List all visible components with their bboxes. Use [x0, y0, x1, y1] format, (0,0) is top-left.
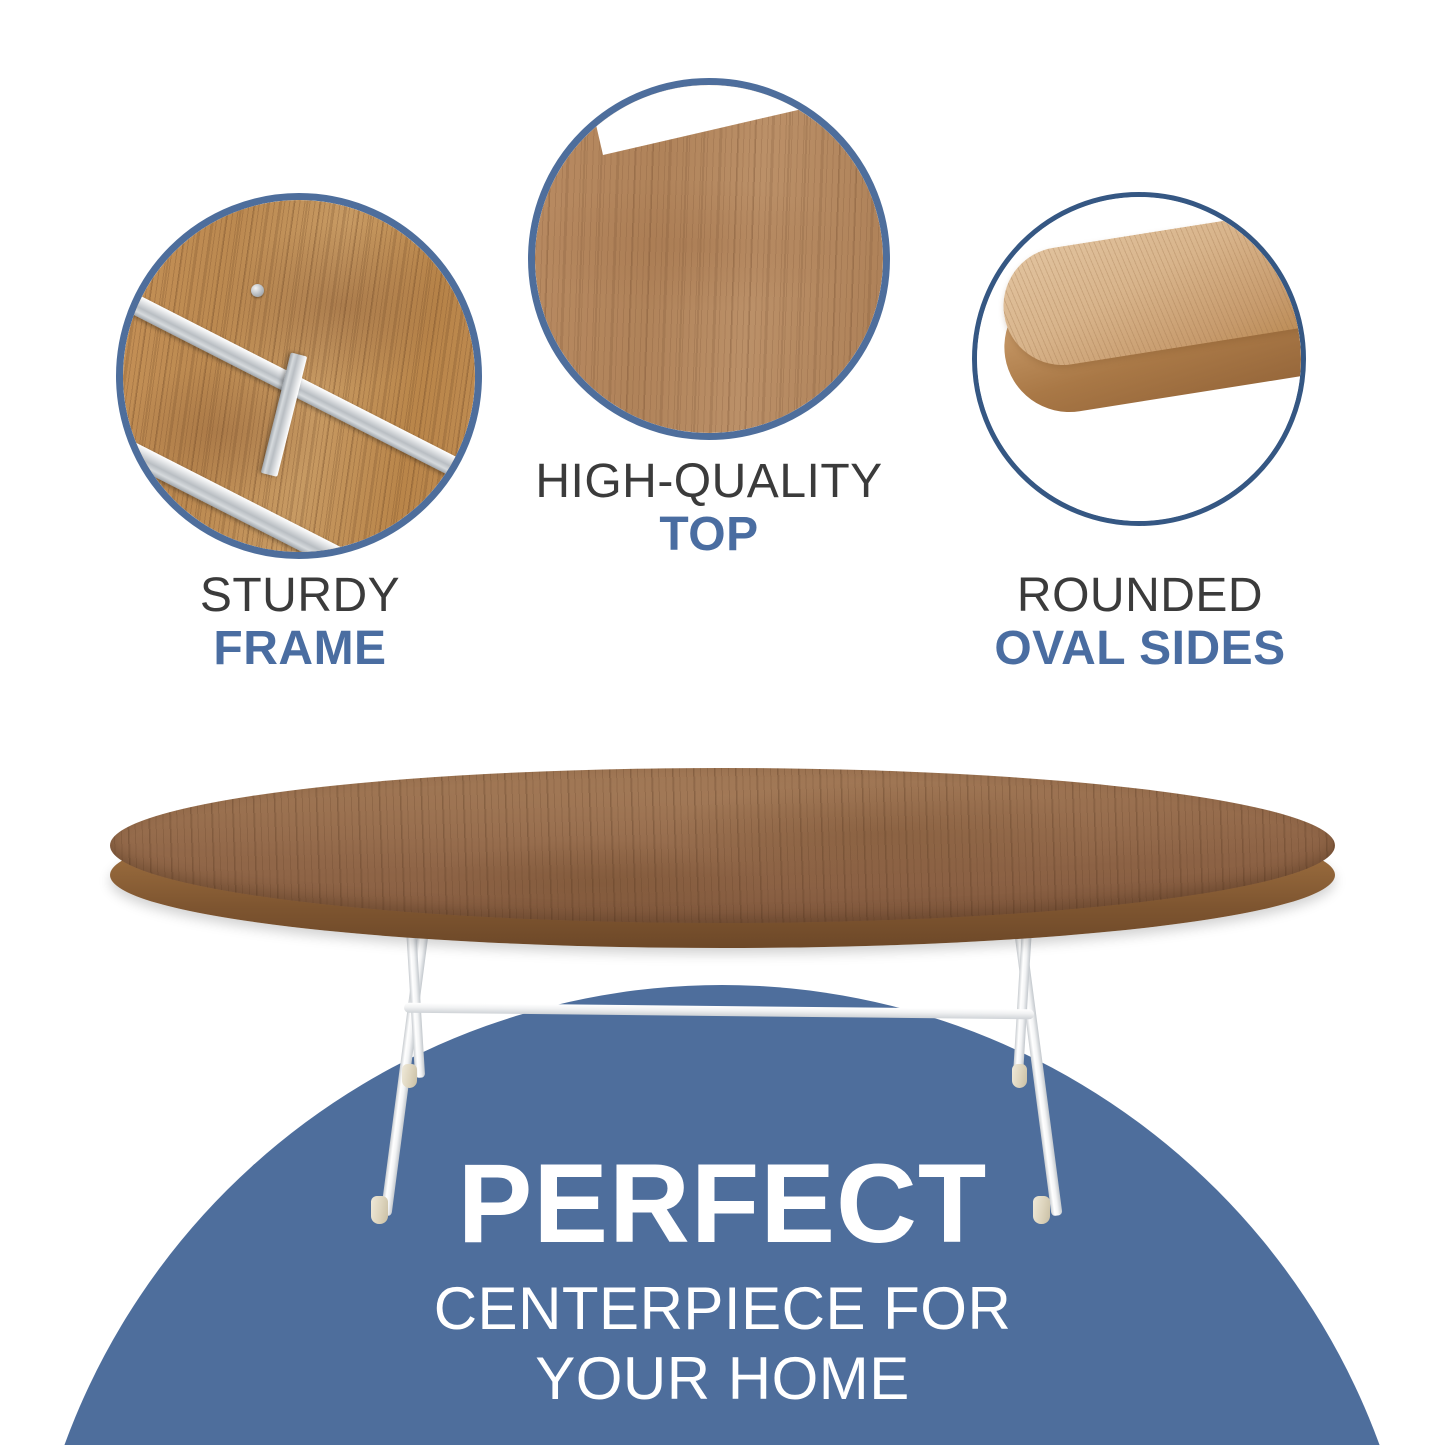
hero-subline-2: YOUR HOME — [0, 1344, 1445, 1414]
hero-headline-block: PERFECT CENTERPIECE FOR YOUR HOME — [0, 1148, 1445, 1413]
table-stretcher-bar — [404, 1003, 1034, 1020]
table-top-surface — [110, 768, 1335, 923]
hero-subline-1: CENTERPIECE FOR — [0, 1274, 1445, 1344]
table-top — [110, 768, 1335, 958]
infographic-canvas: STURDY FRAME HIGH-QUALITY TOP ROUNDED OV… — [0, 0, 1445, 1445]
table-foot-rear-right — [1012, 1064, 1027, 1088]
table-foot-rear-left — [402, 1064, 417, 1088]
hero-headline: PERFECT — [0, 1148, 1445, 1260]
